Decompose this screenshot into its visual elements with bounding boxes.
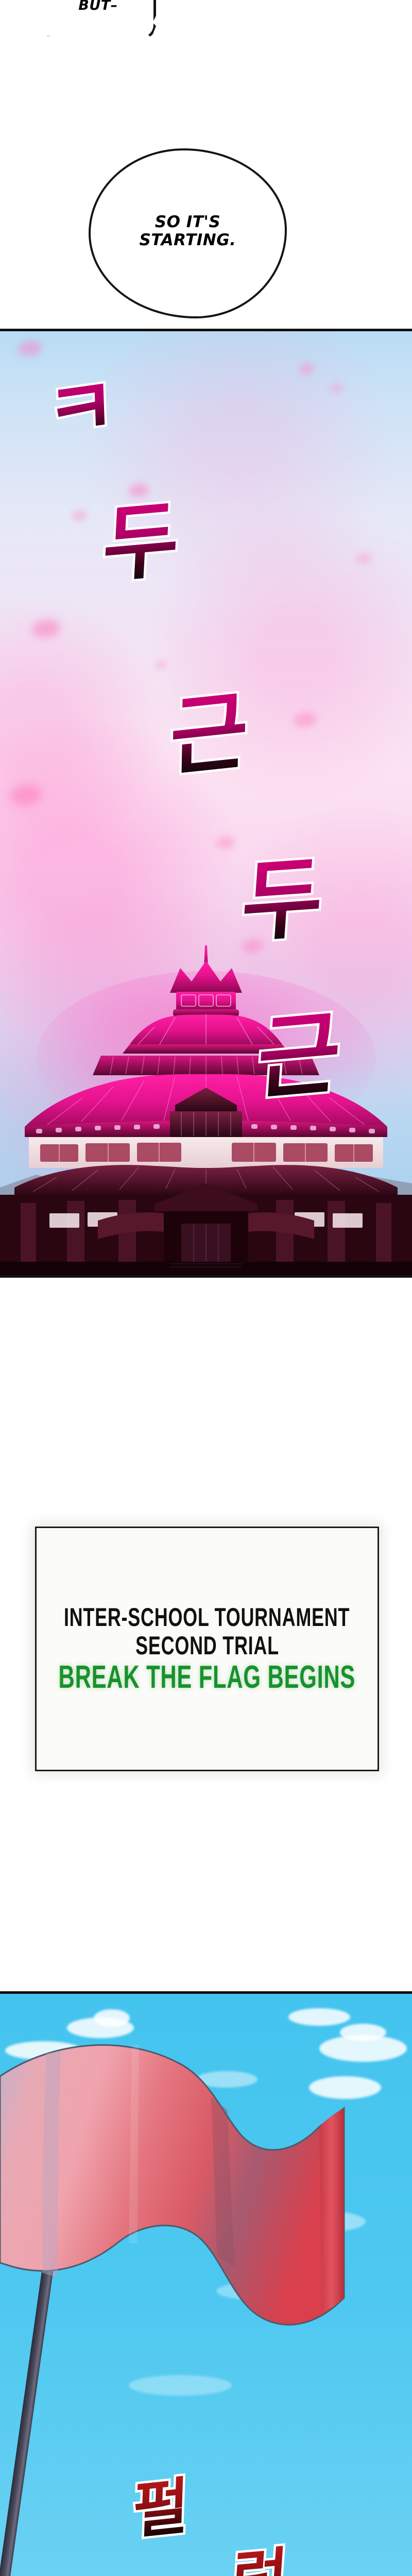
speech-text-starting-line1: SO IT'S <box>155 213 220 231</box>
title-card: INTER-SCHOOL TOURNAMENT SECOND TRIAL BRE… <box>35 1527 379 1771</box>
petal <box>330 383 343 393</box>
sfx-stroke: 두 <box>239 854 325 947</box>
panel-sky-pagoda: ㅋ ㅋ 두 두 근 근 두 두 <box>0 329 412 1278</box>
speech-bubble-starting: SO IT'S STARTING. <box>89 148 287 318</box>
petal <box>294 713 316 727</box>
petal <box>10 785 41 805</box>
webtoon-page: ㅋ ㅋ 두 두 근 근 두 두 <box>0 0 412 2576</box>
sfx-stroke: ㅋ <box>44 366 117 454</box>
sfx-stroke: 펄 <box>132 2475 190 2542</box>
sfx-stroke: 럭 <box>230 2545 289 2576</box>
petal <box>355 553 372 564</box>
petal <box>18 341 42 356</box>
title-line-3: BREAK THE FLAG BEGINS <box>59 1661 356 1693</box>
petal <box>299 363 314 375</box>
cloud <box>340 2024 386 2041</box>
pagoda-temple-illustration <box>0 945 412 1275</box>
panel-flag: 펄 펄 럭 럭 ASURASCANS.COM <box>0 1991 412 2576</box>
speech-text-starting-line2: STARTING. <box>140 231 236 249</box>
title-line-1: INTER-SCHOOL TOURNAMENT <box>64 1604 350 1631</box>
petal <box>216 836 235 849</box>
sfx-stroke: 두 <box>101 498 181 587</box>
petal <box>154 661 167 669</box>
cloud <box>129 2375 232 2396</box>
petal <box>32 620 60 637</box>
speech-bubble-but: BUT– <box>40 0 156 38</box>
speech-text-starting: SO IT'S STARTING. <box>140 213 236 253</box>
title-line-2: SECOND TRIAL <box>135 1632 279 1659</box>
sfx-stroke: 근 <box>169 687 249 781</box>
petal <box>72 511 87 521</box>
sfx-stroke: 근 <box>254 1007 344 1106</box>
speech-text-but: BUT– <box>78 0 117 13</box>
flag-cloth <box>0 1991 345 2370</box>
